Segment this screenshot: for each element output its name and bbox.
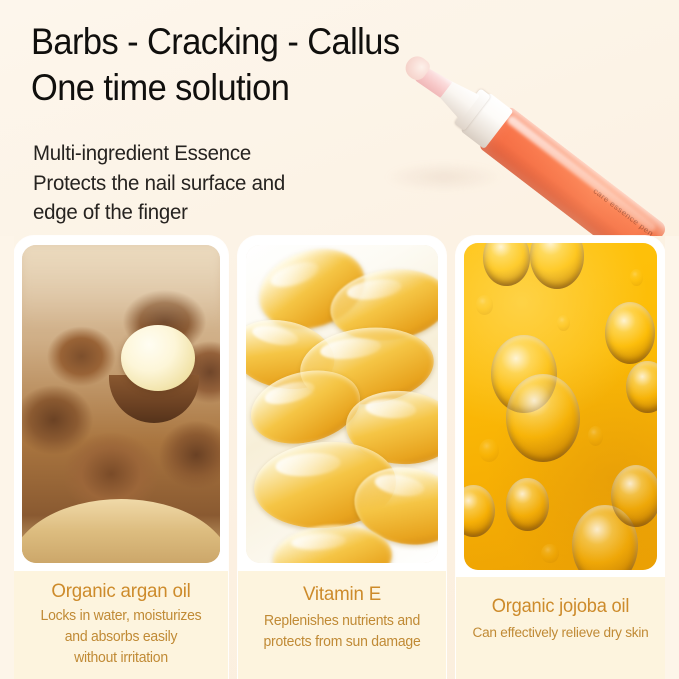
headline-line-1: Barbs - Cracking - Callus: [31, 21, 399, 62]
desc-line: without irritation: [24, 648, 218, 669]
subheading-line-1: Multi-ingredient Essence: [33, 139, 413, 169]
oil-bubble-small: [476, 295, 493, 315]
desc-line: Replenishes nutrients and: [248, 611, 436, 632]
card-text-argan-oil: Organic argan oil Locks in water, moistu…: [14, 571, 228, 679]
card-description: Can effectively relieve dry skin: [466, 623, 655, 643]
oil-bubble: [464, 485, 495, 537]
oil-image: [464, 243, 657, 570]
oil-bubble: [530, 243, 584, 289]
subheading-line-3: edge of the finger: [33, 198, 413, 228]
subheading: Multi-ingredient Essence Protects the na…: [33, 139, 413, 228]
left-margin: [0, 236, 14, 679]
wooden-bowl: [22, 499, 220, 563]
oil-bubble: [506, 478, 548, 530]
pen-barrel: care essence pen one step nail repair: [478, 106, 668, 236]
product-infographic: Barbs - Cracking - Callus One time solut…: [0, 0, 679, 679]
oil-bubble-small: [479, 439, 498, 462]
card-title: Organic jojoba oil: [466, 595, 655, 619]
oil-bubble: [611, 465, 657, 527]
card-title: Organic argan oil: [24, 579, 218, 603]
softgel-capsules-photo: [246, 245, 438, 563]
desc-line: protects from sun damage: [248, 632, 436, 653]
header-section: Barbs - Cracking - Callus One time solut…: [0, 0, 679, 236]
oil-bubble-small: [588, 426, 603, 446]
right-margin: [665, 236, 679, 679]
oil-bubble-small: [541, 544, 558, 564]
photo-top-blur: [22, 245, 220, 328]
desc-line: and absorbs easily: [24, 627, 218, 648]
oil-bubble: [483, 243, 529, 286]
ingredient-cards: Organic argan oil Locks in water, moistu…: [0, 236, 679, 679]
headline-line-2: One time solution: [31, 65, 515, 111]
golden-oil-photo: [464, 243, 657, 570]
ingredient-card-vitamin-e: Vitamin E Replenishes nutrients and prot…: [238, 236, 446, 679]
ingredient-card-argan-oil: Organic argan oil Locks in water, moistu…: [14, 236, 228, 679]
oil-bubble: [506, 374, 579, 462]
oil-bubble: [605, 302, 655, 364]
desc-line: Locks in water, moisturizes: [24, 606, 218, 627]
macadamia-nuts-photo: [22, 245, 220, 563]
nut-kernel: [121, 325, 195, 391]
desc-line: Can effectively relieve dry skin: [466, 623, 655, 643]
capsules-image: [246, 245, 438, 563]
subheading-line-2: Protects the nail surface and: [33, 169, 413, 199]
page-title: Barbs - Cracking - Callus One time solut…: [31, 19, 515, 112]
card-title: Vitamin E: [248, 582, 436, 606]
ingredient-card-jojoba-oil: Organic jojoba oil Can effectively relie…: [456, 236, 665, 679]
oil-bubble-small: [630, 269, 644, 285]
card-text-jojoba-oil: Organic jojoba oil Can effectively relie…: [456, 577, 665, 679]
pen-label-text: care essence pen one step nail repair: [578, 186, 679, 236]
card-description: Replenishes nutrients and protects from …: [248, 611, 436, 652]
card-text-vitamin-e: Vitamin E Replenishes nutrients and prot…: [238, 571, 446, 679]
oil-bubble: [626, 361, 657, 413]
card-description: Locks in water, moisturizes and absorbs …: [24, 606, 218, 668]
oil-bubble-small: [557, 315, 571, 331]
nuts-image: [22, 245, 220, 563]
